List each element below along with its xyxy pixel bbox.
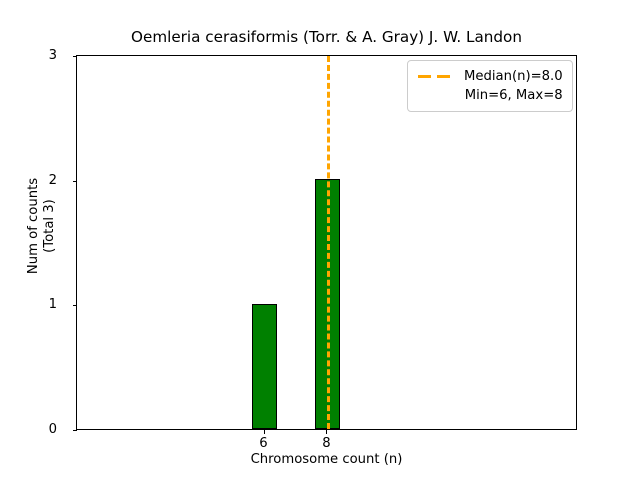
legend-label-median: Median(n)=8.0 bbox=[464, 69, 563, 84]
xtick-label-8: 8 bbox=[306, 437, 346, 451]
y-axis-label-line2: (Total 3) bbox=[42, 36, 58, 416]
ytick-mark-1 bbox=[73, 305, 77, 306]
dashed-line-icon bbox=[417, 70, 455, 84]
x-axis-label: Chromosome count (n) bbox=[76, 452, 577, 467]
y-axis-label-line1: Num of counts bbox=[26, 36, 42, 416]
bar-6 bbox=[252, 304, 277, 429]
ytick-label-0: 0 bbox=[17, 423, 57, 436]
ytick-mark-2 bbox=[73, 181, 77, 182]
y-axis-label: Num of counts (Total 3) bbox=[26, 36, 58, 416]
legend-entry-minmax: Min=6, Max=8 bbox=[417, 86, 563, 105]
chart-title: Oemleria cerasiformis (Torr. & A. Gray) … bbox=[76, 28, 577, 46]
xtick-mark-6 bbox=[264, 430, 265, 434]
chart-figure: Oemleria cerasiformis (Torr. & A. Gray) … bbox=[0, 0, 640, 480]
chart-legend: Median(n)=8.0 Min=6, Max=8 bbox=[407, 60, 573, 112]
ytick-mark-3 bbox=[73, 56, 77, 57]
xtick-label-6: 6 bbox=[244, 437, 284, 451]
median-line bbox=[327, 56, 330, 429]
legend-label-minmax: Min=6, Max=8 bbox=[465, 88, 563, 103]
legend-entry-median: Median(n)=8.0 bbox=[417, 67, 563, 86]
xtick-mark-8 bbox=[326, 430, 327, 434]
